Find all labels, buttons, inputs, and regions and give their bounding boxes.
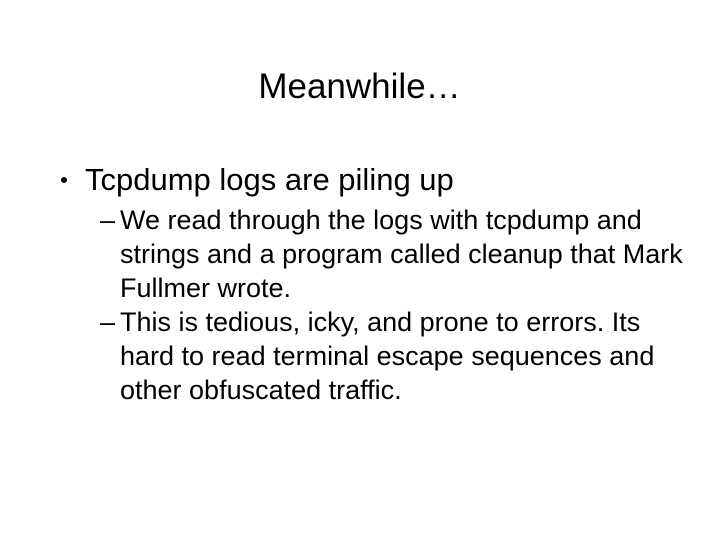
bullet-level1-text: Tcpdump logs are piling up (85, 162, 454, 197)
bullet-dash-icon: – (100, 305, 115, 339)
slide-body-placeholder: Tcpdump logs are piling up – We read thr… (55, 160, 695, 407)
bullet-level2-text: This is tedious, icky, and prone to erro… (120, 305, 695, 407)
bullet-level2-text: We read through the logs with tcpdump an… (120, 203, 695, 305)
slide-title: Meanwhile… (0, 66, 719, 108)
bullet-dot-icon (61, 177, 67, 183)
bullet-level2-item: – This is tedious, icky, and prone to er… (55, 305, 695, 407)
bullet-level1-item: Tcpdump logs are piling up (55, 160, 695, 199)
bullet-dash-icon: – (100, 203, 115, 237)
bullet-level2-item: – We read through the logs with tcpdump … (55, 203, 695, 305)
presentation-slide: Meanwhile… Tcpdump logs are piling up – … (0, 0, 719, 539)
